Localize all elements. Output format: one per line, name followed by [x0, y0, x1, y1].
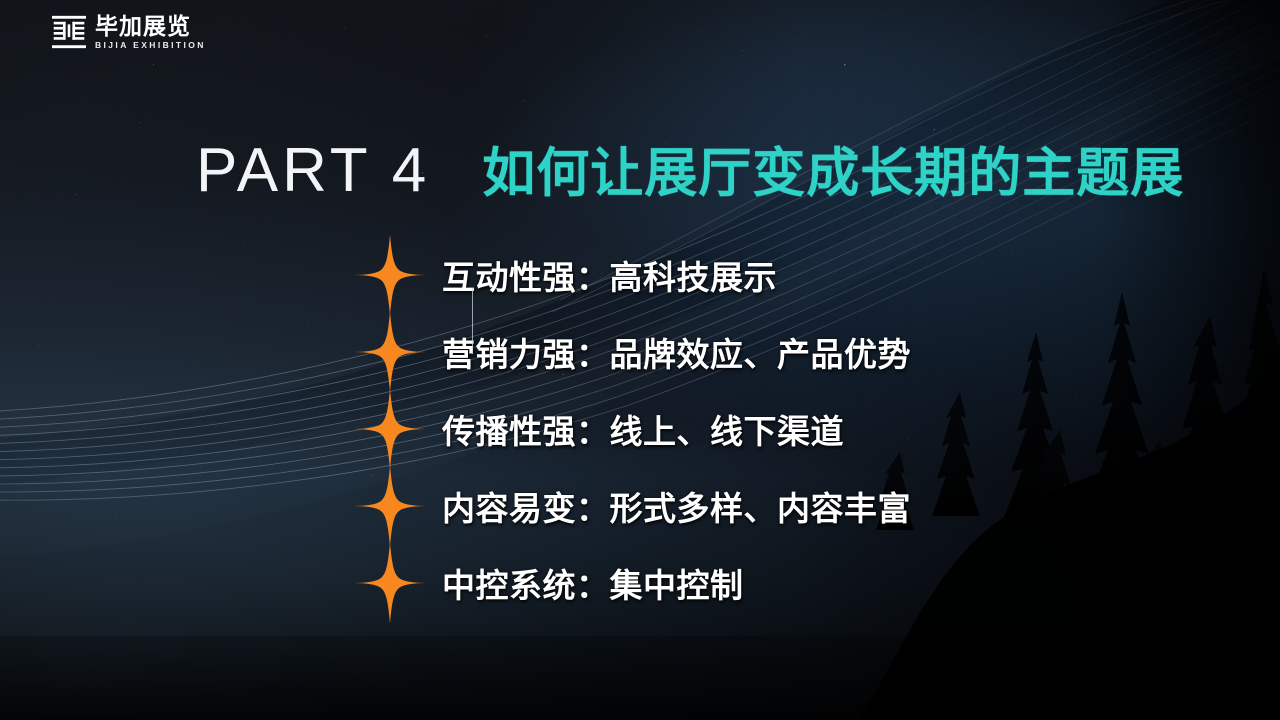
- brand-name-cn: 毕加展览: [95, 14, 206, 38]
- brand-name-en: BIJIA EXHIBITION: [95, 40, 206, 50]
- list-item-label: 传播性强：线上、线下渠道: [442, 405, 844, 453]
- list-item-label: 中控系统：集中控制: [442, 559, 744, 607]
- four-point-star-icon: [348, 464, 432, 548]
- text-cursor-artifact: [472, 288, 473, 354]
- four-point-star-icon: [348, 310, 432, 394]
- bullet-list: 互动性强：高科技展示 营销力强：品牌效应、产品优势 传播性强：线上、线下渠道 内…: [352, 236, 911, 621]
- slide-heading: PART 4 如何让展厅变成长期的主题展: [196, 140, 1184, 202]
- list-item[interactable]: 营销力强：品牌效应、产品优势: [352, 313, 911, 390]
- part-label: PART 4: [196, 140, 430, 202]
- brand-logo[interactable]: 毕加展览 BIJIA EXHIBITION: [52, 14, 206, 50]
- be-monogram-icon: [52, 15, 86, 49]
- list-item[interactable]: 内容易变：形式多样、内容丰富: [352, 467, 911, 544]
- list-item[interactable]: 传播性强：线上、线下渠道: [352, 390, 911, 467]
- list-item[interactable]: 中控系统：集中控制: [352, 544, 911, 621]
- list-item-label: 营销力强：品牌效应、产品优势: [442, 328, 911, 376]
- list-item[interactable]: 互动性强：高科技展示: [352, 236, 911, 313]
- presentation-slide: 毕加展览 BIJIA EXHIBITION PART 4 如何让展厅变成长期的主…: [0, 0, 1280, 720]
- four-point-star-icon: [348, 233, 432, 317]
- four-point-star-icon: [348, 541, 432, 625]
- list-item-label: 内容易变：形式多样、内容丰富: [442, 482, 911, 530]
- page-title: 如何让展厅变成长期的主题展: [482, 147, 1184, 200]
- brand-logo-text: 毕加展览 BIJIA EXHIBITION: [95, 14, 206, 50]
- list-item-label: 互动性强：高科技展示: [442, 251, 777, 299]
- four-point-star-icon: [348, 387, 432, 471]
